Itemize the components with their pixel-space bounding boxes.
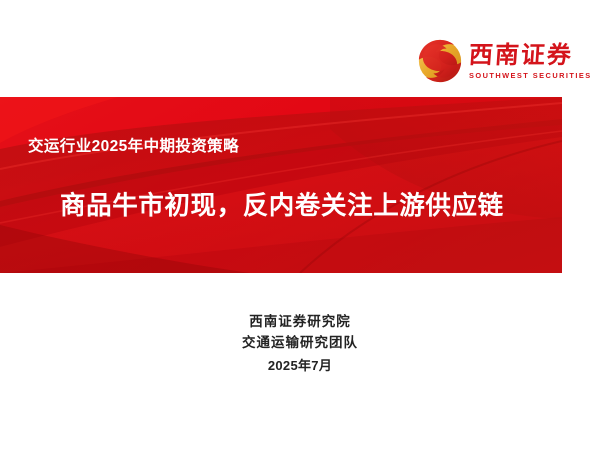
credit-institute: 西南证券研究院 [0, 312, 600, 333]
southwest-securities-emblem-icon [418, 39, 462, 83]
credit-date: 2025年7月 [0, 355, 600, 376]
credit-team: 交通运输研究团队 [0, 333, 600, 354]
logo-company-name-cn: 西南证券 [468, 42, 592, 67]
company-logo: 西南证券 SOUTHWEST SECURITIES [418, 36, 582, 86]
logo-company-name-en: SOUTHWEST SECURITIES [469, 71, 592, 80]
credits-block: 西南证券研究院 交通运输研究团队 2025年7月 [0, 312, 600, 376]
report-subtitle: 交运行业2025年中期投资策略 [28, 134, 239, 156]
report-title: 商品牛市初现，反内卷关注上游供应链 [60, 185, 504, 222]
title-slide: 西南证券 SOUTHWEST SECURITIES [0, 0, 600, 450]
logo-wordmark: 西南证券 SOUTHWEST SECURITIES [469, 39, 592, 83]
